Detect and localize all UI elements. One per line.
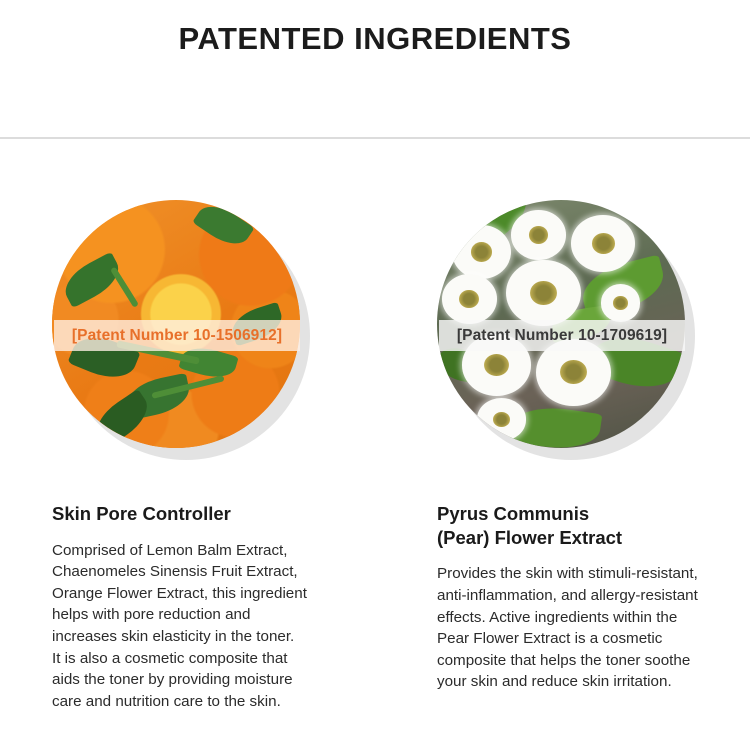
ingredient-title-1: Skin Pore Controller [52,502,352,526]
leaf-icon [192,200,254,252]
ingredient-media-2: [Patent Number 10-1709619] [437,200,689,452]
ingredient-description-1: Comprised of Lemon Balm Extract, Chaenom… [52,540,352,713]
ingredient-column-2: [Patent Number 10-1709619] Pyrus Communi… [375,138,750,750]
ingredient-media-1: [Patent Number 10-1506912] [52,200,304,452]
blossom-icon [511,210,566,260]
ingredient-title-2: Pyrus Communis (Pear) Flower Extract [437,502,739,549]
page-header: PATENTED INGREDIENTS [0,0,750,138]
ingredient-title-line: Pyrus Communis [437,502,739,526]
stem-icon [109,267,138,308]
ingredient-title-line: (Pear) Flower Extract [437,526,739,550]
patented-ingredients-page: PATENTED INGREDIENTS [0,0,750,750]
blossom-icon [442,274,497,324]
blossom-icon [601,284,641,321]
ingredient-text-1: Skin Pore Controller Comprised of Lemon … [52,502,352,712]
ingredient-text-2: Pyrus Communis (Pear) Flower Extract Pro… [437,502,739,693]
blossom-icon [452,225,512,280]
ingredient-columns: [Patent Number 10-1506912] Skin Pore Con… [0,138,750,750]
blossom-icon [571,215,635,272]
patent-number-badge-1: [Patent Number 10-1506912] [54,320,300,351]
ingredient-column-1: [Patent Number 10-1506912] Skin Pore Con… [0,138,375,750]
ingredient-title-line: Skin Pore Controller [52,502,352,526]
ingredient-description-2: Provides the skin with stimuli-resistant… [437,563,739,692]
patent-number-badge-2: [Patent Number 10-1709619] [439,320,685,351]
blossom-icon [506,260,580,327]
leaf-icon [58,252,126,308]
blossom-icon [477,398,527,440]
page-title: PATENTED INGREDIENTS [179,21,572,57]
